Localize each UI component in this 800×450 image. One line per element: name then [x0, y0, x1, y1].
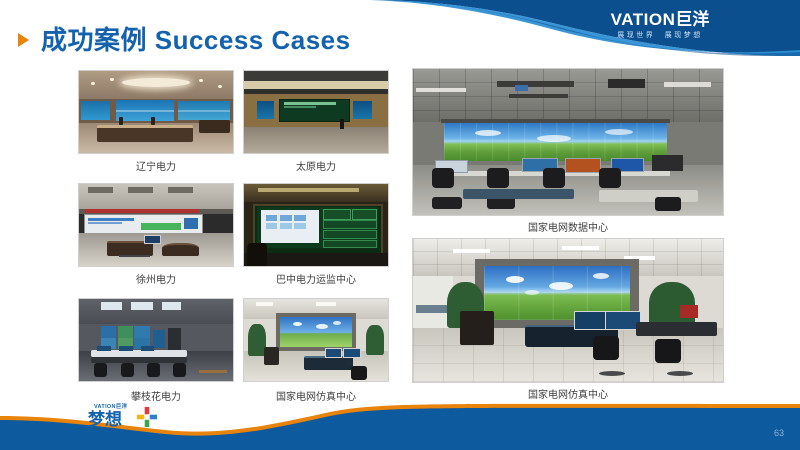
brand-logo-top: VATION巨洋 展现世界 展现梦想	[580, 11, 740, 45]
gallery-image-8[interactable]	[412, 238, 724, 383]
page-title-row: 成功案例 Success Cases	[18, 20, 351, 57]
gallery-image-1[interactable]	[78, 70, 234, 154]
scene-wide-videowall-office	[413, 69, 723, 215]
gallery-caption-4: 巴中电力运监中心	[243, 271, 389, 286]
scene-dark-room-data-screen	[244, 184, 388, 266]
scene-lobby-bliss-large	[413, 239, 723, 382]
gallery-caption-5: 攀枝花电力	[78, 388, 234, 403]
colored-pinwheel-plus-icon	[136, 406, 158, 428]
top-banner-shape	[370, 0, 800, 56]
scene-auditorium-green-screen	[244, 71, 388, 153]
page-number: 63	[774, 428, 784, 438]
brand-logo-bottom: VATION巨洋 梦想	[88, 402, 174, 436]
scene-control-room-desks	[79, 299, 233, 381]
gallery-caption-6: 国家电网仿真中心	[243, 388, 389, 403]
triangle-right-icon	[18, 33, 29, 47]
gallery-image-4[interactable]	[243, 183, 389, 267]
scene-control-room-warm	[79, 71, 233, 153]
scene-lobby-bliss-small	[244, 299, 388, 381]
brand-wordmark-en: VATION	[611, 10, 676, 29]
scene-wide-control-room	[79, 184, 233, 266]
brand-wordmark-cn: 巨洋	[675, 10, 709, 29]
page-title: 成功案例 Success Cases	[41, 20, 351, 57]
gallery-caption-8: 国家电网仿真中心	[412, 386, 724, 401]
top-banner	[370, 0, 800, 56]
gallery-image-5[interactable]	[78, 298, 234, 382]
gallery-image-3[interactable]	[78, 183, 234, 267]
gallery-image-7[interactable]	[412, 68, 724, 216]
gallery-caption-2: 太原电力	[243, 158, 389, 173]
brand-wordmark: VATION巨洋	[580, 11, 740, 28]
gallery-caption-3: 徐州电力	[78, 271, 234, 286]
gallery-image-6[interactable]	[243, 298, 389, 382]
brand-logo-bottom-slogan: 梦想	[88, 411, 122, 429]
slide-canvas: VATION巨洋 展现世界 展现梦想 成功案例 Success Cases	[0, 0, 800, 450]
gallery-caption-7: 国家电网数据中心	[412, 219, 724, 234]
brand-logo-bottom-wordmark: VATION巨洋	[94, 402, 174, 410]
gallery-caption-1: 辽宁电力	[78, 158, 234, 173]
gallery-image-2[interactable]	[243, 70, 389, 154]
brand-tagline: 展现世界 展现梦想	[580, 32, 740, 39]
